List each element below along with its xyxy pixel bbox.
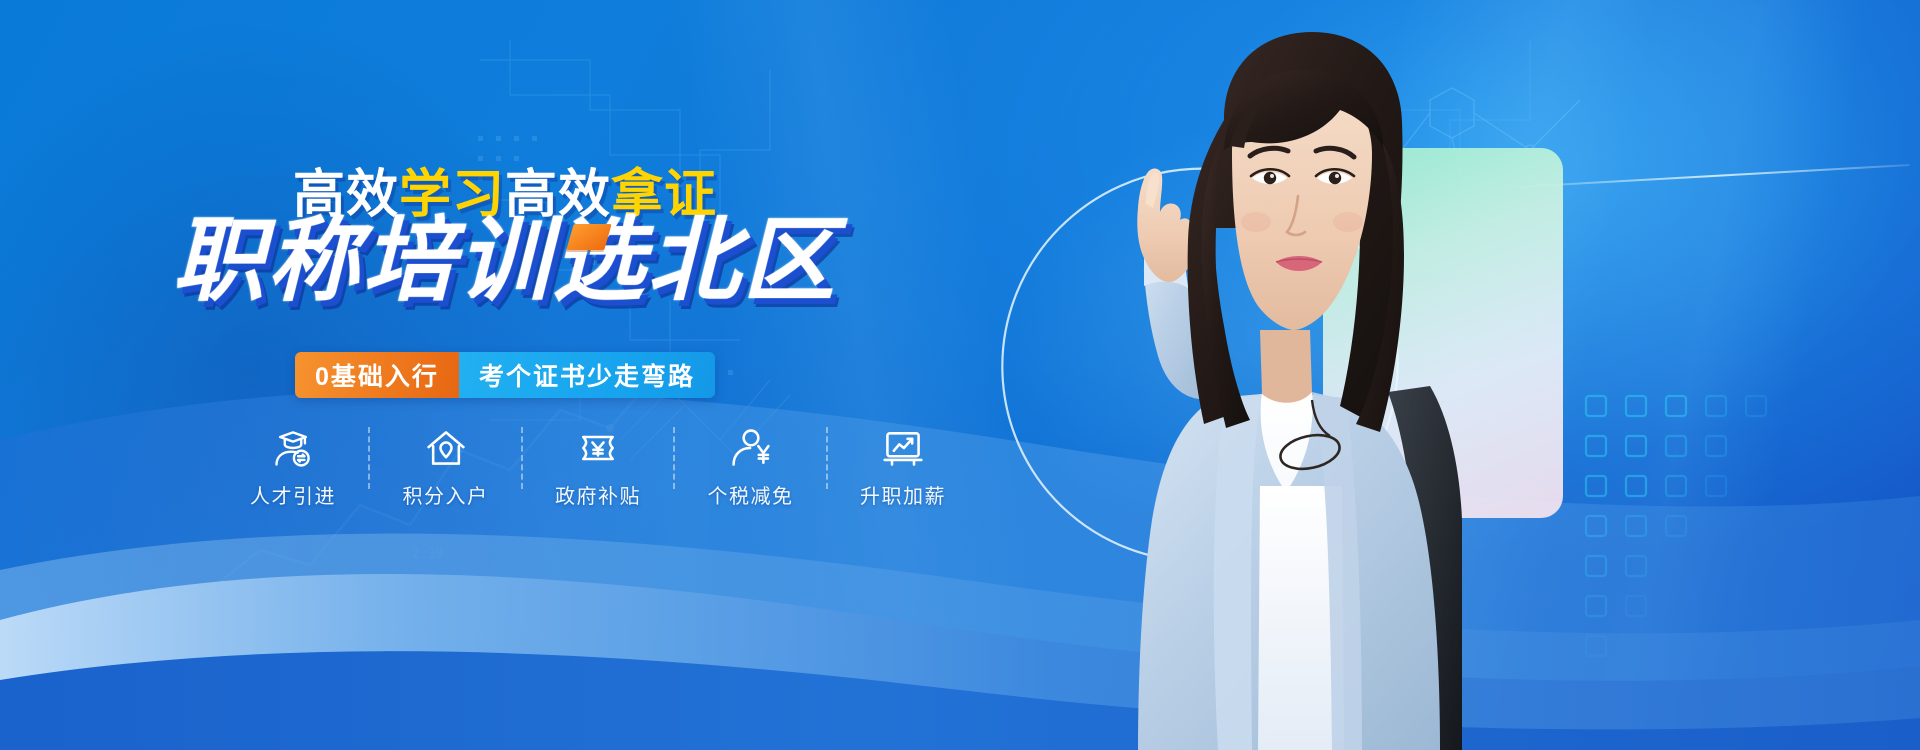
feature-list: 人才引进 积分入户 (238, 425, 958, 525)
feature-item-residence[interactable]: 积分入户 (391, 425, 501, 509)
tagline-pill[interactable]: 0基础入行 考个证书少走弯路 (295, 352, 715, 398)
person-yen-icon (728, 425, 774, 471)
feature-divider-3 (673, 427, 675, 489)
coupon-yuan-icon (575, 425, 621, 471)
headline-primary-text: 职称培训选北区 (172, 210, 837, 312)
orange-accent-shape (567, 224, 612, 250)
feature-item-subsidy[interactable]: 政府补贴 (543, 425, 653, 509)
pill-right-label: 考个证书少走弯路 (459, 352, 715, 398)
house-pin-icon (423, 425, 469, 471)
feature-item-promotion[interactable]: 升职加薪 (848, 425, 958, 509)
feature-item-talent[interactable]: 人才引进 (238, 425, 348, 509)
copy-block: 高效学习高效拿证 职称培训选北区 0基础入行 考个证书少走弯路 (0, 0, 1010, 750)
chart-board-icon (880, 425, 926, 471)
woman-illustration (1010, 0, 1570, 750)
feature-divider-2 (521, 427, 523, 489)
pill-left-label: 0基础入行 (295, 352, 459, 398)
feature-label: 积分入户 (403, 480, 489, 509)
headline-primary: 职称培训选北区 (172, 212, 837, 311)
tagline-pill-wrap: 0基础入行 考个证书少走弯路 (0, 352, 1010, 398)
feature-label: 政府补贴 (555, 480, 641, 509)
graduate-person-icon (270, 425, 316, 471)
feature-label: 个税减免 (708, 480, 794, 509)
feature-item-tax[interactable]: 个税减免 (696, 425, 806, 509)
feature-divider-4 (826, 427, 828, 489)
instructor-photo (1010, 0, 1570, 750)
feature-label: 人才引进 (250, 480, 336, 509)
feature-divider-1 (368, 427, 370, 489)
promo-banner: 2:39 (0, 0, 1920, 750)
headline-primary-wrap: 职称培训选北区 (0, 212, 1010, 311)
feature-label: 升职加薪 (860, 480, 946, 509)
